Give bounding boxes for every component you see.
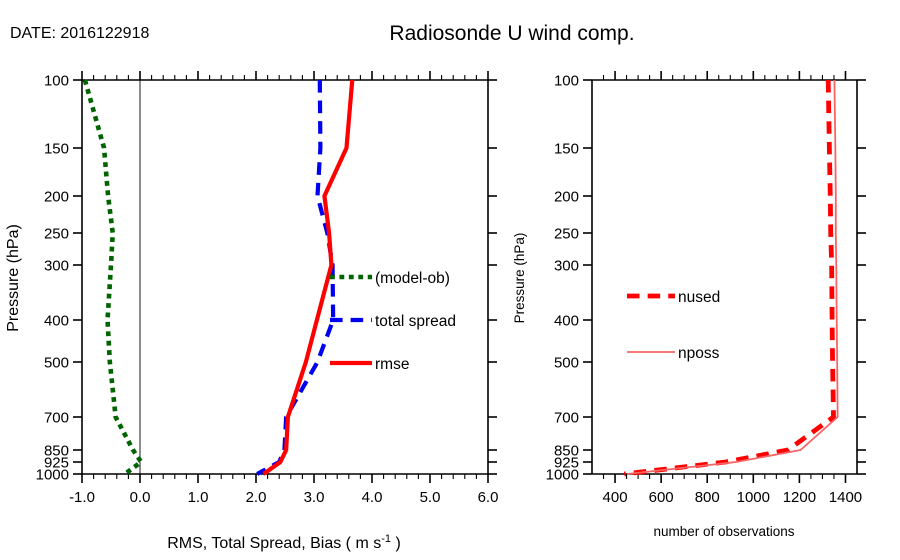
left-panel-xtick-label: 2.0: [246, 489, 267, 506]
left-y-axis-title: Pressure (hPa): [5, 224, 22, 332]
figure-root: DATE: 2016122918 Radiosonde U wind comp.…: [0, 0, 900, 560]
right-panel-xtick-label: 800: [695, 489, 720, 506]
legend-label: (model-ob): [375, 270, 450, 287]
right-panel-ytick-label: 150: [554, 141, 579, 158]
right-panel-xtick-label: 1000: [737, 489, 770, 506]
left-panel-xtick-label: 0.0: [130, 489, 151, 506]
right-panel-xtick-label: 600: [649, 489, 674, 506]
left-x-axis-title: RMS, Total Spread, Bias ( m s-1 ): [167, 533, 401, 552]
right-panel-xtick-label: 1200: [783, 489, 816, 506]
left-panel-ytick-label: 700: [44, 410, 69, 427]
right-x-axis-title: number of observations: [653, 524, 794, 539]
date-label: DATE: 2016122918: [10, 25, 149, 42]
left-panel-xtick-label: 3.0: [304, 489, 325, 506]
left-panel-xtick-label: 6.0: [478, 489, 499, 506]
right-panel-ytick-label: 200: [554, 189, 579, 206]
left-panel-ytick-label: 150: [44, 141, 69, 158]
left-panel-ytick-label: 400: [44, 313, 69, 330]
legend-label: nposs: [678, 345, 720, 362]
left-x-axis-title-main: RMS, Total Spread, Bias ( m s: [167, 535, 381, 552]
left-panel-xtick-label: 5.0: [420, 489, 441, 506]
left-panel-ytick-label: 1000: [36, 467, 69, 484]
legend-label: nused: [678, 289, 720, 306]
left-panel-xtick-label: -1.0: [69, 489, 95, 506]
left-panel-ytick-label: 300: [44, 258, 69, 275]
right-panel-ytick-label: 1000: [546, 467, 579, 484]
left-panel-ytick-label: 500: [44, 355, 69, 372]
right-panel-ytick-label: 100: [554, 73, 579, 90]
left-panel-ytick-label: 200: [44, 189, 69, 206]
right-panel-ytick-label: 300: [554, 258, 579, 275]
radiosonde-figure: DATE: 2016122918 Radiosonde U wind comp.…: [0, 0, 900, 560]
legend-label: rmse: [375, 356, 409, 373]
right-y-axis-title: Pressure (hPa): [512, 233, 527, 324]
page-title: Radiosonde U wind comp.: [389, 22, 634, 45]
left-panel-xtick-label: 1.0: [188, 489, 209, 506]
left-x-axis-title-exponent: -1: [381, 533, 391, 545]
right-panel-ytick-label: 250: [554, 226, 579, 243]
right-panel-xtick-label: 1400: [829, 489, 862, 506]
legend-label: total spread: [375, 313, 456, 330]
right-panel-ytick-label: 700: [554, 410, 579, 427]
right-panel-xtick-label: 400: [603, 489, 628, 506]
left-panel-ytick-label: 100: [44, 73, 69, 90]
right-panel-ytick-label: 400: [554, 313, 579, 330]
left-panel-xtick-label: 4.0: [362, 489, 383, 506]
right-panel-ytick-label: 500: [554, 355, 579, 372]
left-x-axis-title-tail: ): [391, 535, 401, 552]
left-panel-ytick-label: 250: [44, 226, 69, 243]
